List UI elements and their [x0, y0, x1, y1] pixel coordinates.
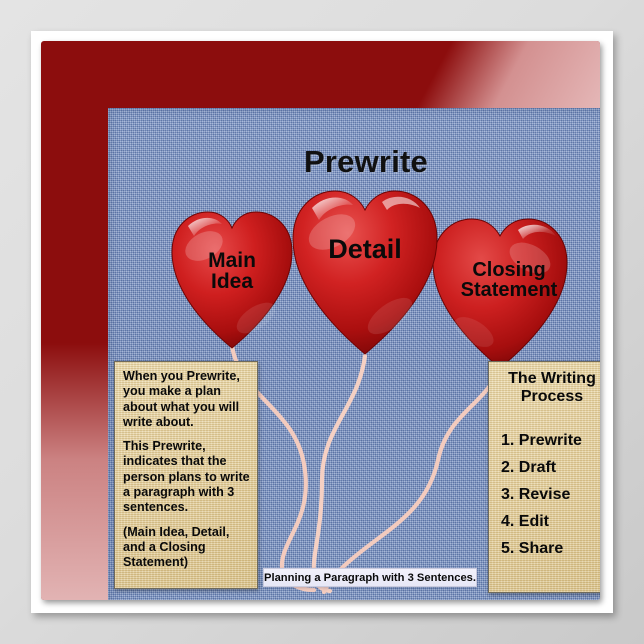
bottom-caption: Planning a Paragraph with 3 Sentences. [263, 568, 477, 587]
explanation-paragraph-2: This Prewrite, indicates that the person… [123, 439, 250, 515]
heart-shape-closing [430, 212, 570, 374]
list-item: 4. Edit [495, 513, 600, 531]
list-item: 1. Prewrite [495, 432, 600, 450]
heart-balloon-main-idea[interactable]: Main Idea [170, 206, 294, 354]
list-item: 5. Share [495, 540, 600, 558]
heart-balloon-closing[interactable]: Closing Statement [430, 212, 570, 374]
heart-shape-main-idea [170, 206, 294, 354]
page-title: Prewrite [108, 144, 600, 180]
balloon-string-detail [314, 356, 365, 591]
balloon-string-closing [324, 366, 500, 592]
list-item: 2. Draft [495, 459, 600, 477]
writing-process-list: 1. Prewrite 2. Draft 3. Revise 4. Edit 5… [495, 432, 600, 558]
writing-process-heading: The Writing Process [495, 370, 600, 406]
poster-red-frame: Prewrite [41, 41, 600, 600]
poster-denim-background: Prewrite [108, 108, 600, 600]
explanation-paragraph-1: When you Prewrite, you make a plan about… [123, 369, 250, 430]
explanation-paragraph-3: (Main Idea, Detail, and a Closing Statem… [123, 525, 250, 571]
heart-balloon-detail[interactable]: Detail [290, 184, 440, 360]
list-item: 3. Revise [495, 486, 600, 504]
explanation-panel: When you Prewrite, you make a plan about… [114, 361, 258, 589]
poster-canvas: Prewrite [0, 0, 644, 644]
heart-shape-detail [290, 184, 440, 360]
writing-process-panel: The Writing Process 1. Prewrite 2. Draft… [488, 361, 600, 593]
